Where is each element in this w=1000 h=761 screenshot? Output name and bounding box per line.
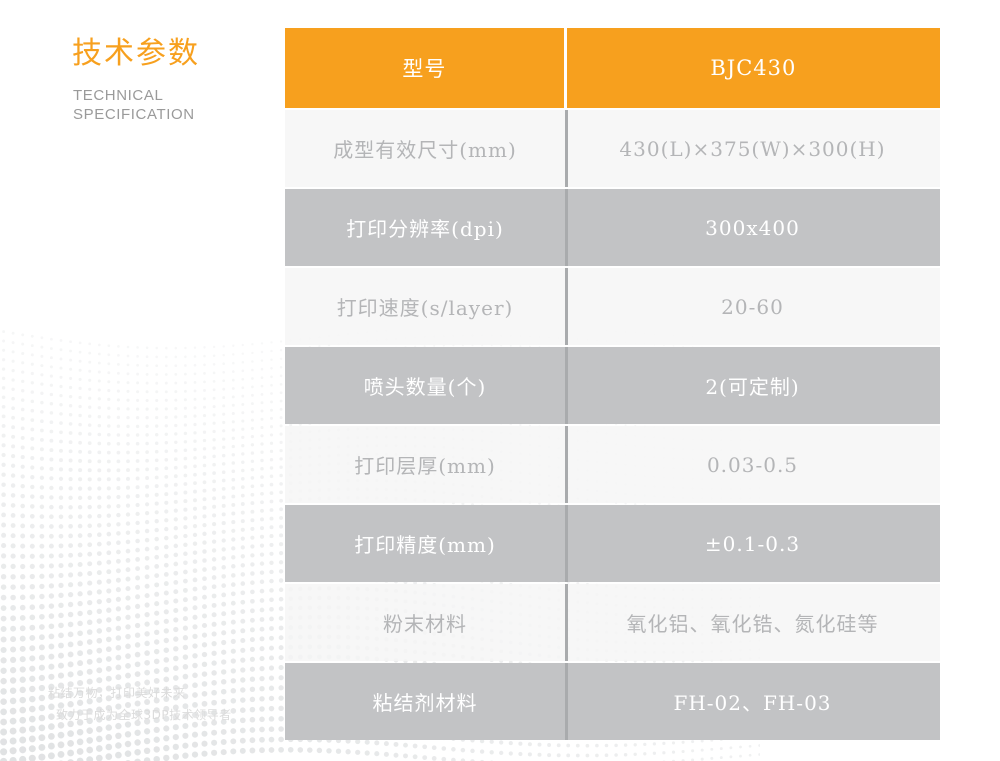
row-value-cell: ±0.1-0.3 [565,505,940,582]
table-body: 成型有效尺寸(mm)430(L)×375(W)×300(H)打印分辨率(dpi)… [285,110,940,740]
row-label-cell: 打印分辨率(dpi) [285,189,565,266]
brand-slogan: 粘结万物，打印美好未来 致力于成为全球3DP技术领导者 [48,682,232,726]
row-value-cell: FH-02、FH-03 [565,663,940,740]
row-value-cell: 20-60 [565,268,940,345]
table-header-row: 型号 BJC430 [285,28,940,108]
heading-panel: 技术参数 TECHNICAL SPECIFICATION [0,0,285,761]
row-value-cell: 300x400 [565,189,940,266]
row-value-cell: 氧化铝、氧化锆、氮化硅等 [565,584,940,661]
row-value-cell: 430(L)×375(W)×300(H) [565,110,940,187]
table-row: 打印分辨率(dpi)300x400 [285,189,940,266]
row-label-cell: 喷头数量(个) [285,347,565,424]
page-title-en-line2: SPECIFICATION [73,105,195,124]
row-label-cell: 打印速度(s/layer) [285,268,565,345]
row-label-cell: 打印精度(mm) [285,505,565,582]
table-row: 打印层厚(mm)0.03-0.5 [285,426,940,503]
row-value-cell: 2(可定制) [565,347,940,424]
row-label-cell: 粘结剂材料 [285,663,565,740]
specification-table: 型号 BJC430 成型有效尺寸(mm)430(L)×375(W)×300(H)… [285,28,940,742]
row-label-cell: 打印层厚(mm) [285,426,565,503]
slogan-line-1: 粘结万物，打印美好未来 [48,682,232,704]
table-row: 喷头数量(个)2(可定制) [285,347,940,424]
row-value-cell: 0.03-0.5 [565,426,940,503]
table-row: 粉末材料氧化铝、氧化锆、氮化硅等 [285,584,940,661]
table-row: 打印速度(s/layer)20-60 [285,268,940,345]
page-title-cn: 技术参数 [72,28,200,72]
table-row: 成型有效尺寸(mm)430(L)×375(W)×300(H) [285,110,940,187]
slogan-line-2: 致力于成为全球3DP技术领导者 [48,704,232,726]
row-label-cell: 成型有效尺寸(mm) [285,110,565,187]
page-title-en-line1: TECHNICAL [73,86,195,105]
header-cell-value: BJC430 [567,28,940,108]
table-row: 粘结剂材料FH-02、FH-03 [285,663,940,740]
page-title-en: TECHNICAL SPECIFICATION [73,86,195,124]
row-label-cell: 粉末材料 [285,584,565,661]
table-row: 打印精度(mm)±0.1-0.3 [285,505,940,582]
header-cell-label: 型号 [285,28,564,108]
